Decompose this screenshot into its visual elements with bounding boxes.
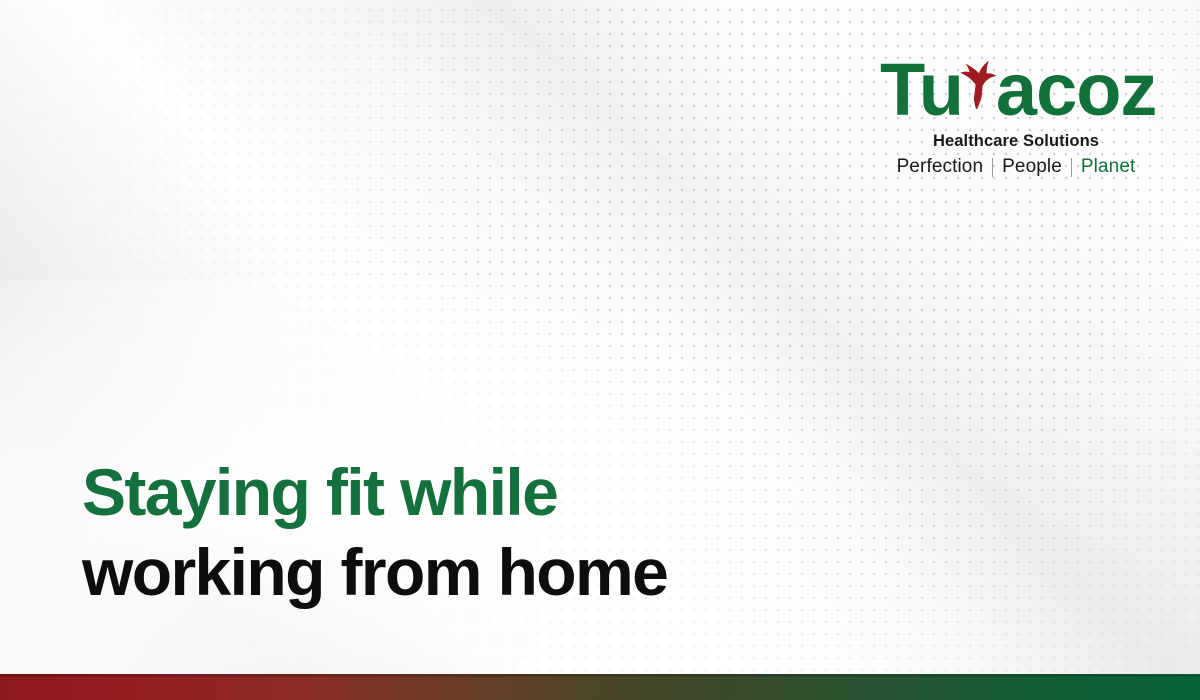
turaco-bird-icon — [959, 55, 999, 115]
bottom-bar-hairline — [0, 674, 1200, 677]
headline-block: Staying fit while working from home — [82, 452, 667, 612]
headline-line-2: working from home — [82, 532, 667, 612]
logo-value-people: People — [1002, 156, 1062, 178]
banner-canvas: Tu acoz Healthcare Solutions Perfection … — [0, 0, 1200, 700]
logo-tagline-values: Perfection People Planet — [880, 156, 1152, 178]
logo-wordmark-prefix: Tu — [880, 48, 963, 131]
logo-value-planet: Planet — [1081, 156, 1135, 178]
headline-line-1: Staying fit while — [82, 452, 667, 532]
logo-wordmark: Tu acoz — [880, 52, 1152, 128]
value-separator-icon — [1071, 158, 1072, 177]
value-separator-icon — [992, 158, 993, 177]
logo-wordmark-suffix: acoz — [996, 48, 1157, 131]
turacoz-logo: Tu acoz Healthcare Solutions Perfection … — [880, 52, 1152, 178]
logo-value-perfection: Perfection — [897, 156, 984, 178]
bottom-accent-bar — [0, 674, 1200, 700]
logo-tagline-primary: Healthcare Solutions — [880, 132, 1152, 151]
